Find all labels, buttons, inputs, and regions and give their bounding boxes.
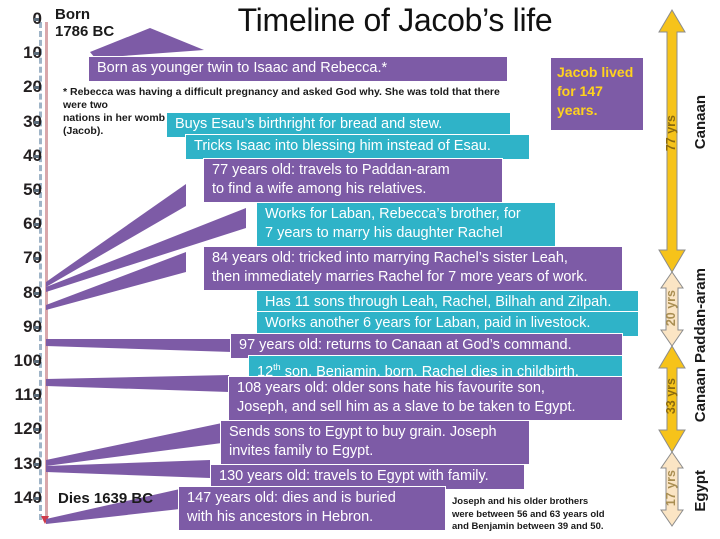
axis-tick-mark-40 [34, 155, 39, 158]
birth-label: Born 1786 BC [55, 6, 114, 40]
sidenote-text: Joseph and his older brothers were betwe… [452, 496, 642, 534]
axis-arrow-icon [41, 516, 49, 524]
benjamin-ordinal-suffix: th [273, 362, 281, 372]
period-label-canaan-2: Canaan [692, 368, 709, 422]
axis-tick-mark-130 [34, 463, 39, 466]
jacob-lived-callout: Jacob lived for 147 years. [551, 58, 643, 130]
period-arrow-group [650, 0, 720, 539]
arrow-years-canaan-1: 77 yrs [664, 115, 678, 151]
axis-tick-mark-30 [34, 121, 39, 124]
event-box-age77[interactable]: 77 years old: travels to Paddan-aram to … [203, 158, 503, 203]
arrow-years-canaan-2: 33 yrs [664, 378, 678, 414]
axis-tick-mark-110 [34, 394, 39, 397]
axis-line [45, 22, 48, 520]
arrow-years-paddan-aram: 20 yrs [664, 290, 678, 326]
event-box-laban[interactable]: Works for Laban, Rebecca’s brother, for … [256, 202, 556, 247]
axis-tick-mark-10 [34, 52, 39, 55]
page-title: Timeline of Jacob’s life [205, 2, 585, 39]
axis-dashed-line [39, 22, 42, 520]
event-box-age84[interactable]: 84 years old: tricked into marrying Rach… [203, 246, 623, 291]
death-label: Dies 1639 BC [58, 490, 153, 507]
arrow-years-egypt: 17 yrs [664, 470, 678, 506]
period-label-egypt: Egypt [692, 470, 709, 512]
axis-tick-mark-20 [34, 86, 39, 89]
axis-tick-mark-120 [34, 428, 39, 431]
axis-tick-mark-70 [34, 257, 39, 260]
event-box-age147[interactable]: 147 years old: dies and is buried with h… [178, 486, 446, 531]
axis-tick-mark-50 [34, 189, 39, 192]
axis-tick-mark-100 [34, 360, 39, 363]
axis-tick-mark-90 [34, 326, 39, 329]
axis-tick-mark-80 [34, 292, 39, 295]
event-box-grain[interactable]: Sends sons to Egypt to buy grain. Joseph… [220, 420, 530, 465]
event-box-blessing[interactable]: Tricks Isaac into blessing him instead o… [185, 134, 530, 160]
period-label-paddan-aram: Paddan-aram [692, 268, 709, 363]
period-label-canaan-1: Canaan [692, 95, 709, 149]
event-box-born[interactable]: Born as younger twin to Isaac and Rebecc… [88, 56, 508, 82]
axis-tick-mark-0 [34, 18, 39, 21]
event-box-age108[interactable]: 108 years old: older sons hate his favou… [228, 376, 623, 421]
axis-tick-mark-60 [34, 223, 39, 226]
axis-tick-mark-140 [34, 497, 39, 500]
timeline-infographic: Timeline of Jacob’s life 010203040506070… [0, 0, 720, 539]
